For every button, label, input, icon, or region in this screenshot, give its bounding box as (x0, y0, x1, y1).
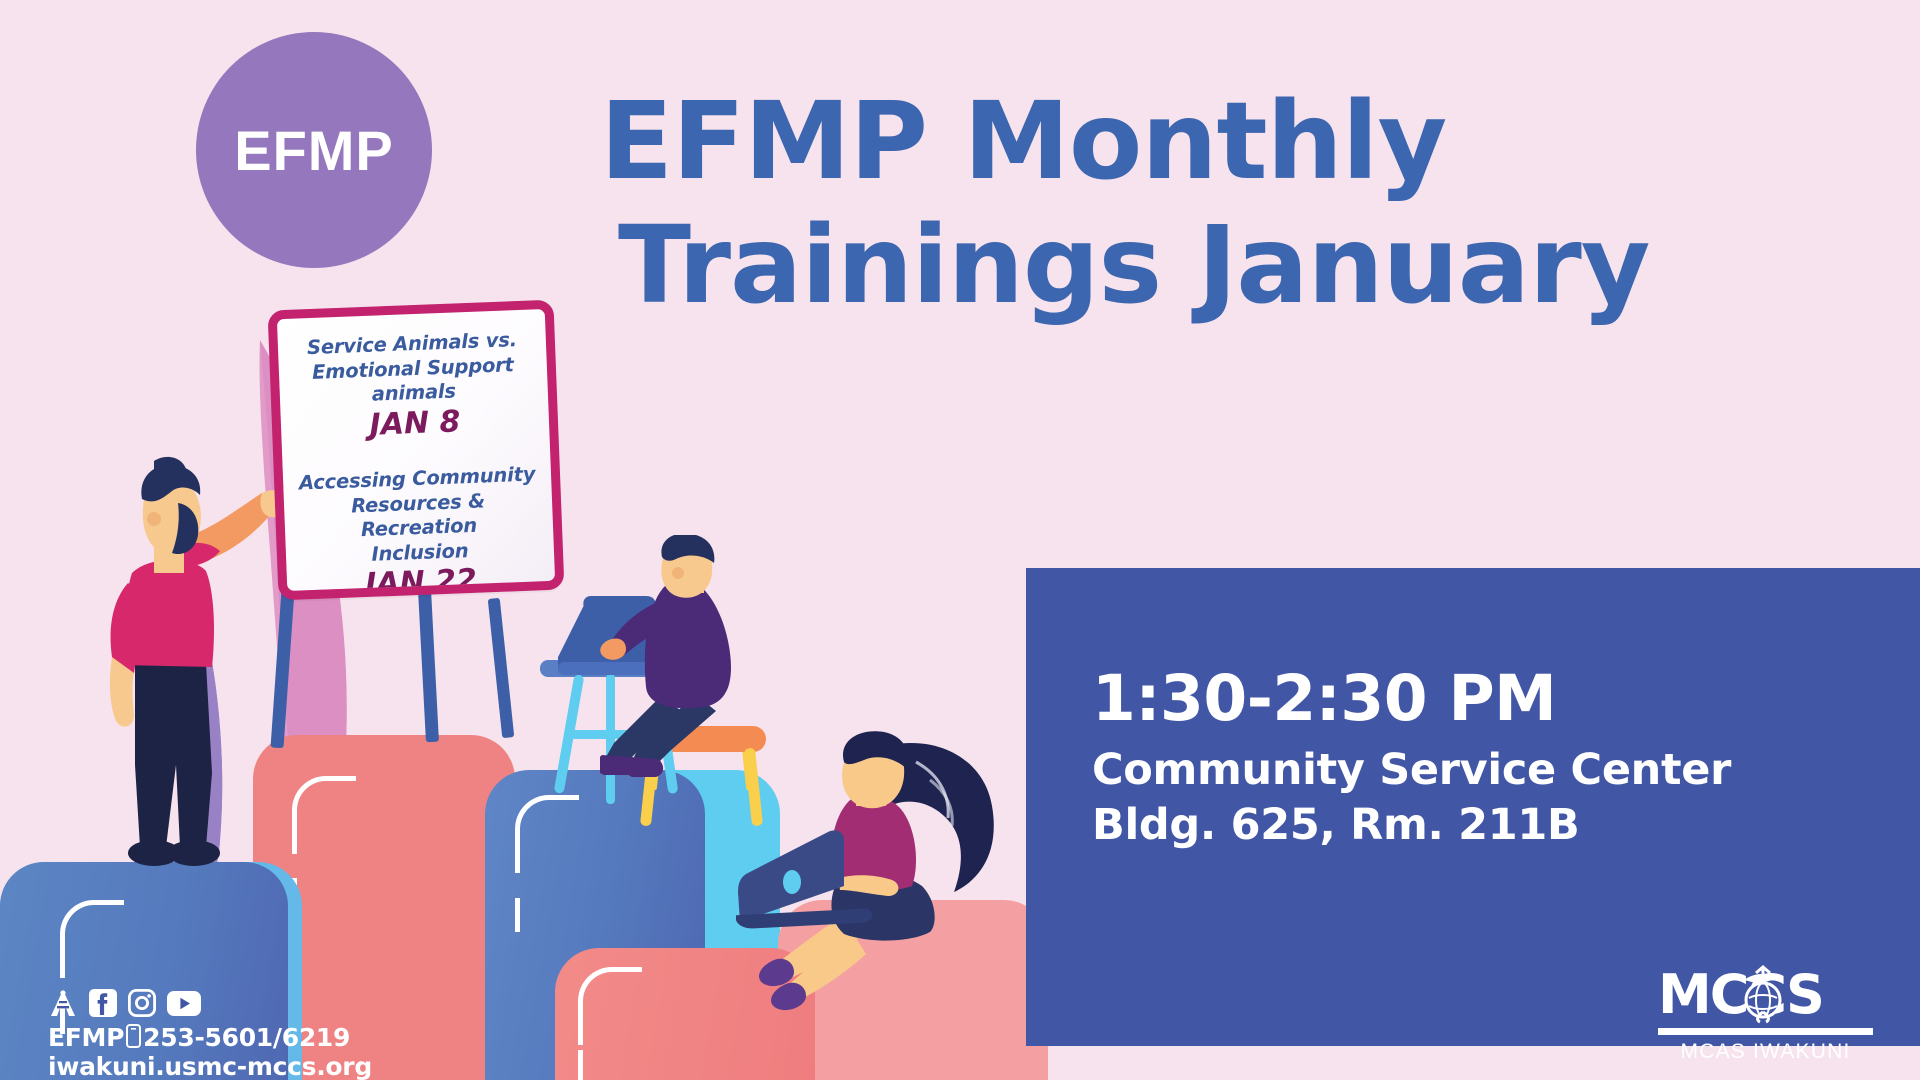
contact-block: EFMP253-5601/6219 iwakuni.usmc-mccs.org (48, 988, 448, 1080)
facebook-icon[interactable] (89, 989, 117, 1017)
mccs-logo: MCCS MCAS IWAKUNI (1658, 968, 1873, 1064)
instagram-icon[interactable] (128, 989, 156, 1017)
info-time: 1:30-2:30 PM (1092, 664, 1920, 735)
phone-icon (126, 1024, 141, 1048)
page-title-line2: Trainings January (618, 204, 1900, 328)
session-1-topic: Service Animals vs. Emotional Support an… (292, 327, 535, 410)
poster-canvas: EFMP EFMP Monthly Trainings January (0, 0, 1920, 1080)
mccs-wordmark-row: MCCS (1658, 968, 1873, 1024)
efmp-badge: EFMP (196, 32, 432, 268)
contact-phone-number: 253-5601/6219 (143, 1023, 350, 1052)
mccs-a-logo-icon[interactable] (48, 988, 78, 1018)
block-coral-front-accent (578, 967, 642, 1045)
mccs-subtitle: MCAS IWAKUNI (1658, 1040, 1873, 1064)
whiteboard: Service Animals vs. Emotional Support an… (268, 300, 565, 601)
session-2-topic: Accessing Community Resources & Recreati… (297, 463, 541, 570)
block-steel-blue-tick (515, 898, 520, 932)
laptop-lap (736, 830, 896, 940)
page-title-line1: EFMP Monthly (600, 80, 1900, 204)
info-location-line2: Bldg. 625, Rm. 211B (1092, 798, 1920, 854)
contact-phone-prefix: EFMP (48, 1023, 124, 1052)
youtube-icon[interactable] (167, 991, 201, 1016)
block-blue-left-accent (60, 900, 124, 978)
contact-phone: EFMP253-5601/6219 (48, 1023, 448, 1052)
info-location-line1: Community Service Center (1092, 743, 1920, 799)
efmp-badge-label: EFMP (234, 118, 394, 183)
mccs-divider-bar (1658, 1028, 1873, 1035)
block-coral-front-tick (578, 1050, 583, 1080)
eagle-globe-anchor-icon (1732, 964, 1794, 1026)
page-title: EFMP Monthly Trainings January (600, 80, 1900, 328)
whiteboard-group: Service Animals vs. Emotional Support an… (253, 305, 571, 645)
contact-website: iwakuni.usmc-mccs.org (48, 1052, 448, 1080)
social-icon-row (48, 988, 448, 1018)
